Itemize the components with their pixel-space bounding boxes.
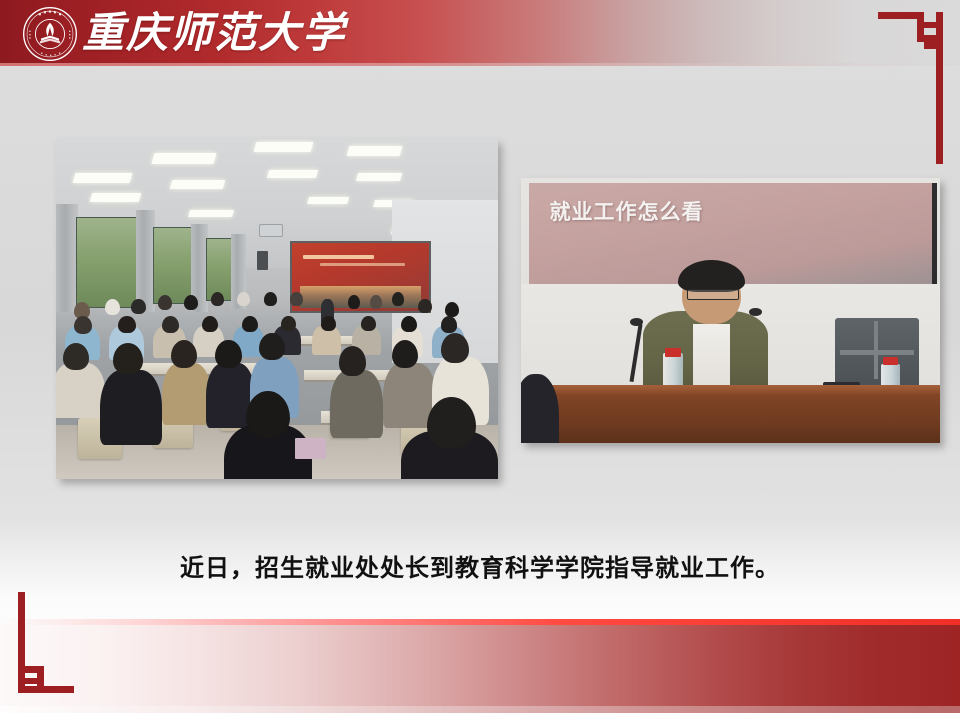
audience-member [63, 343, 90, 370]
lecture-hall-photo [56, 139, 498, 479]
audience-member [445, 302, 459, 317]
audience-member [441, 333, 469, 363]
audience-member [321, 316, 336, 332]
audience-member [56, 363, 105, 417]
ceiling-light [188, 210, 234, 217]
bottle-cap [883, 357, 898, 365]
audience-member [330, 370, 383, 438]
audience-member [162, 363, 211, 424]
ceiling-light [307, 197, 349, 204]
bottle-cap [665, 348, 681, 357]
table-edge [521, 385, 940, 394]
slide-subtitle-line [320, 263, 405, 265]
audience-member [74, 316, 93, 334]
audience-member [100, 370, 162, 445]
audience-member [418, 299, 431, 313]
slide-title-line [303, 255, 374, 258]
slide-caption: 近日，招生就业处处长到教育科学学院指导就业工作。 [0, 548, 960, 583]
audience-member [427, 397, 476, 448]
ceiling-light [355, 173, 402, 181]
curtain [56, 204, 78, 313]
audience-member [361, 316, 376, 332]
audience-member [290, 292, 302, 306]
audience-member [281, 316, 296, 332]
audience-member [113, 343, 142, 374]
corner-ornament-top-right-icon [878, 8, 950, 168]
audience-member [118, 316, 136, 334]
ceiling-light [90, 193, 141, 202]
wall-speaker [257, 251, 268, 270]
university-seal-icon [22, 6, 78, 62]
audience-member [401, 316, 417, 332]
header-banner: 重庆师范大学 [0, 0, 960, 66]
window [76, 217, 140, 307]
front-projection-screen [290, 241, 431, 313]
corner-ornament-bottom-left-icon [14, 592, 74, 712]
audience-member [162, 316, 179, 333]
audience-member [441, 316, 458, 333]
window [153, 227, 195, 304]
ceiling-light [72, 173, 132, 183]
speaker-photo: 就业工作怎么看 [521, 178, 940, 443]
audience-member [264, 292, 277, 306]
ceiling-light [267, 170, 318, 178]
audience-member [211, 292, 224, 306]
audience-member [392, 292, 404, 306]
audience-member [339, 346, 366, 375]
conference-table [521, 385, 940, 443]
projection-slide-title: 就业工作怎么看 [549, 196, 703, 226]
chair-frame [840, 350, 914, 355]
audience-member [202, 316, 218, 332]
audience-member [348, 295, 360, 309]
audience-member [242, 316, 258, 332]
smartphone [295, 438, 326, 458]
ceiling-projector [259, 224, 283, 237]
ceiling-light [253, 142, 313, 152]
footer-banner [0, 625, 960, 713]
audience-member [158, 295, 172, 310]
ceiling-light [152, 153, 217, 164]
audience-member [259, 333, 285, 360]
ceiling-light [170, 180, 226, 189]
audience-member [237, 292, 250, 306]
university-wordmark: 重庆师范大学 [82, 4, 346, 62]
presentation-slide: 重庆师范大学 [0, 0, 960, 720]
ceiling-light [346, 146, 402, 156]
audience-member [215, 340, 242, 369]
audience-member [184, 295, 198, 310]
university-name-text: 重庆师范大学 [82, 12, 346, 54]
office-chair [835, 318, 919, 390]
audience-member [131, 299, 146, 315]
audience-member [370, 295, 382, 309]
speaker-glasses [687, 289, 739, 300]
audience-member [105, 299, 120, 315]
